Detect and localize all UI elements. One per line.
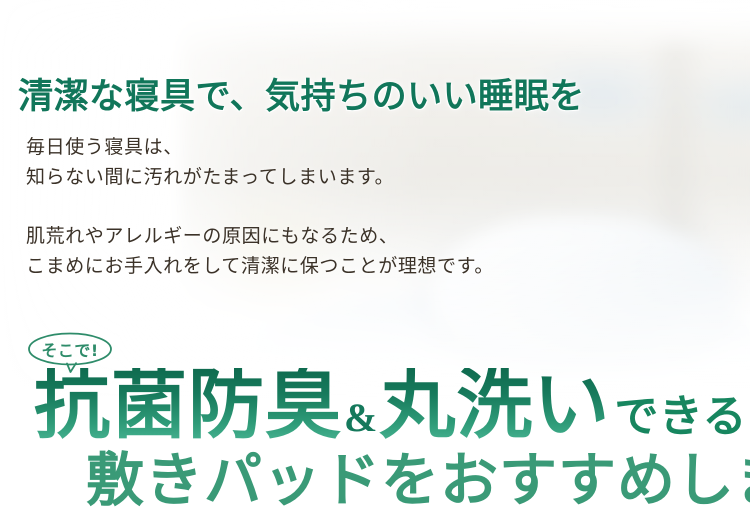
body-paragraph1-line1: 毎日使う寝具は、 [26, 133, 494, 163]
claim-suffix: できる [610, 395, 747, 439]
body-paragraph2-line1: 肌荒れやアレルギーの原因にもなるため、 [26, 222, 494, 252]
sokode-badge-label: そこで! [26, 332, 114, 366]
body-paragraph2-line2: こまめにお手入れをして清潔に保つことが理想です。 [26, 252, 494, 282]
claim-line-2: 敷きパッドをおすすめします [86, 452, 750, 510]
paragraph-spacer [26, 193, 494, 222]
body-paragraph1-line2: 知らない間に汚れがたまってしまいます。 [26, 163, 494, 193]
claim-part-2: 丸洗い [379, 368, 610, 444]
body-copy: 毎日使う寝具は、 知らない間に汚れがたまってしまいます。 肌荒れやアレルギーの原… [26, 133, 494, 282]
promo-banner: 清潔な寝具で、気持ちのいい睡眠を 毎日使う寝具は、 知らない間に汚れがたまってし… [0, 0, 750, 515]
claim-ampersand: & [342, 398, 379, 438]
banner-content: 清潔な寝具で、気持ちのいい睡眠を 毎日使う寝具は、 知らない間に汚れがたまってし… [0, 0, 750, 515]
claim-line-1: 抗菌防臭 & 丸洗い できる [34, 368, 747, 444]
lead-headline: 清潔な寝具で、気持ちのいい睡眠を [18, 68, 585, 119]
claim-part-1: 抗菌防臭 [34, 368, 342, 444]
